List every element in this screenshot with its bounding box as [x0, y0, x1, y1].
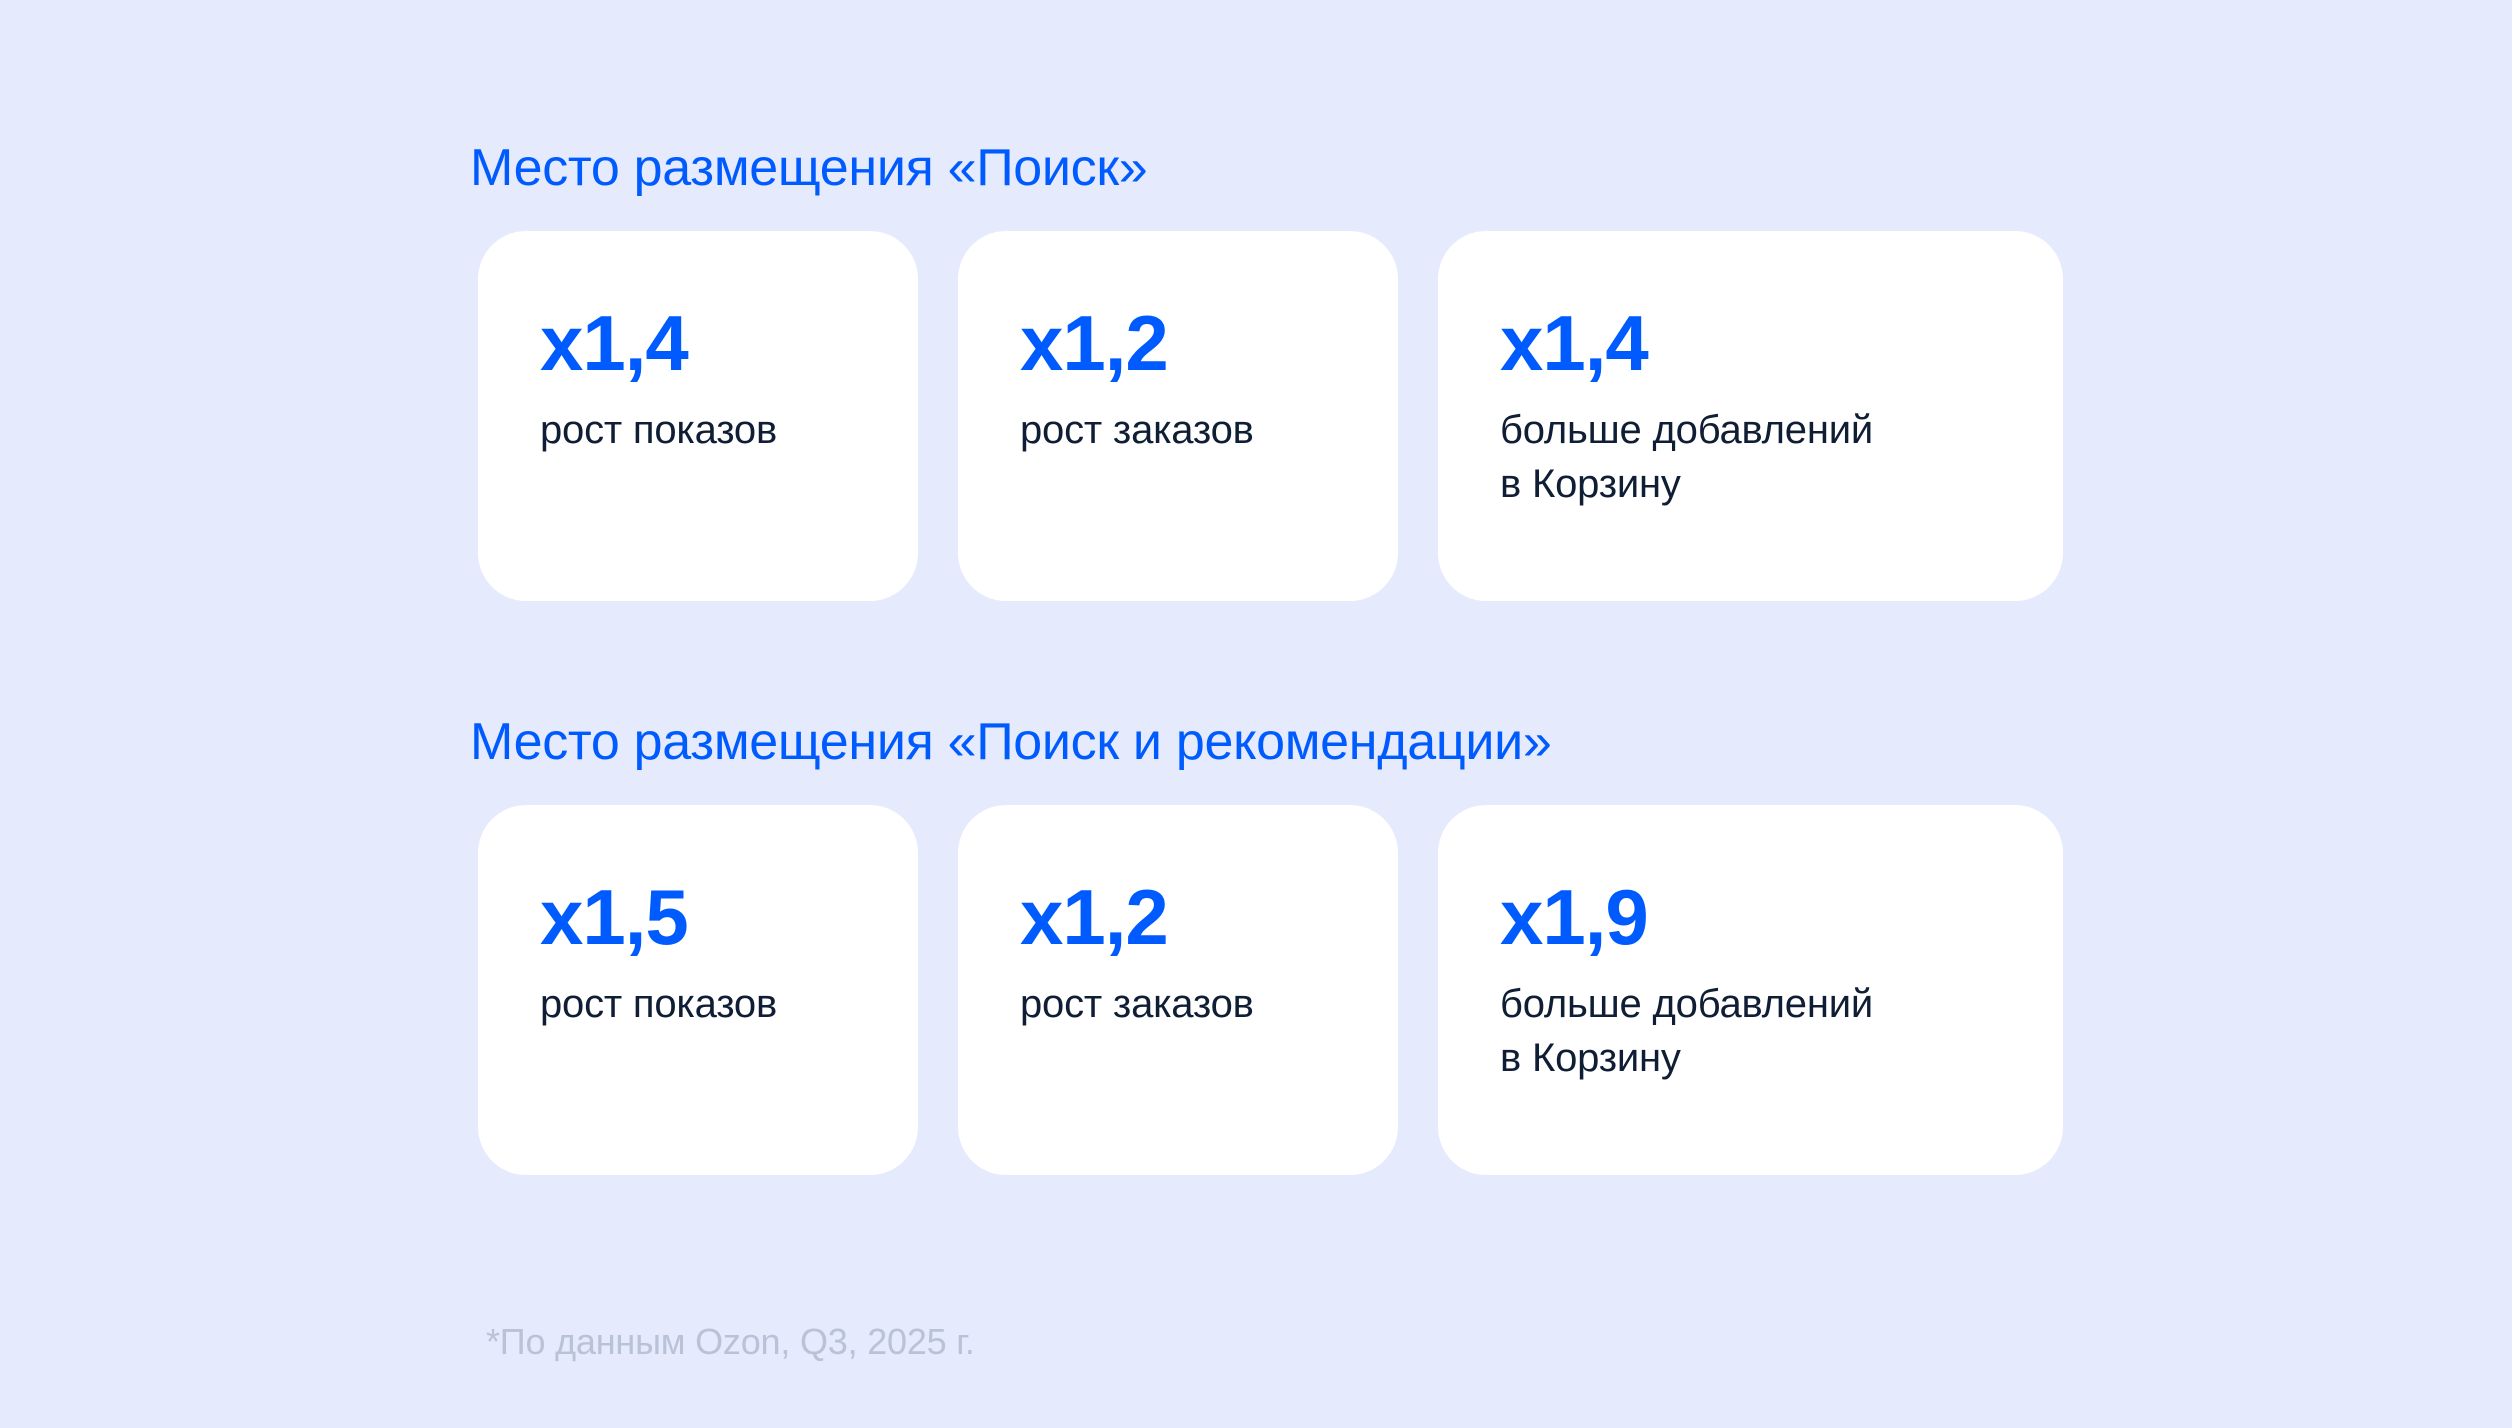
stat-card: x1,4 рост показов	[478, 231, 918, 601]
stat-card-value: x1,2	[1020, 301, 1336, 385]
infographic-page: Место размещения «Поиск» x1,4 рост показ…	[0, 0, 2512, 1428]
stat-card-label: больше добавлений в Корзину	[1500, 403, 2001, 511]
section-heading-search: Место размещения «Поиск»	[470, 137, 2090, 199]
stat-card-value: x1,5	[540, 875, 856, 959]
stat-card-label: рост заказов	[1020, 403, 1336, 457]
stat-card-label: больше добавлений в Корзину	[1500, 977, 2001, 1085]
stat-card-row-search: x1,4 рост показов x1,2 рост заказов x1,4…	[478, 231, 2090, 601]
stat-card-row-search-and-recommendations: x1,5 рост показов x1,2 рост заказов x1,9…	[478, 805, 2090, 1175]
stat-card: x1,2 рост заказов	[958, 805, 1398, 1175]
stat-card-label: рост показов	[540, 977, 856, 1031]
data-source-footnote: *По данным Ozon, Q3, 2025 г.	[486, 1320, 975, 1364]
stat-card-value: x1,4	[540, 301, 856, 385]
stat-card-value: x1,4	[1500, 301, 2001, 385]
stat-card: x1,2 рост заказов	[958, 231, 1398, 601]
content-column: Место размещения «Поиск» x1,4 рост показ…	[470, 0, 2090, 1175]
section-search-and-recommendations: Место размещения «Поиск и рекомендации» …	[470, 601, 2090, 1175]
stat-card-label: рост показов	[540, 403, 856, 457]
stat-card-value: x1,2	[1020, 875, 1336, 959]
section-heading-search-and-recommendations: Место размещения «Поиск и рекомендации»	[470, 711, 2090, 773]
stat-card: x1,9 больше добавлений в Корзину	[1438, 805, 2063, 1175]
section-search: Место размещения «Поиск» x1,4 рост показ…	[470, 0, 2090, 601]
stat-card-value: x1,9	[1500, 875, 2001, 959]
stat-card: x1,5 рост показов	[478, 805, 918, 1175]
stat-card: x1,4 больше добавлений в Корзину	[1438, 231, 2063, 601]
stat-card-label: рост заказов	[1020, 977, 1336, 1031]
